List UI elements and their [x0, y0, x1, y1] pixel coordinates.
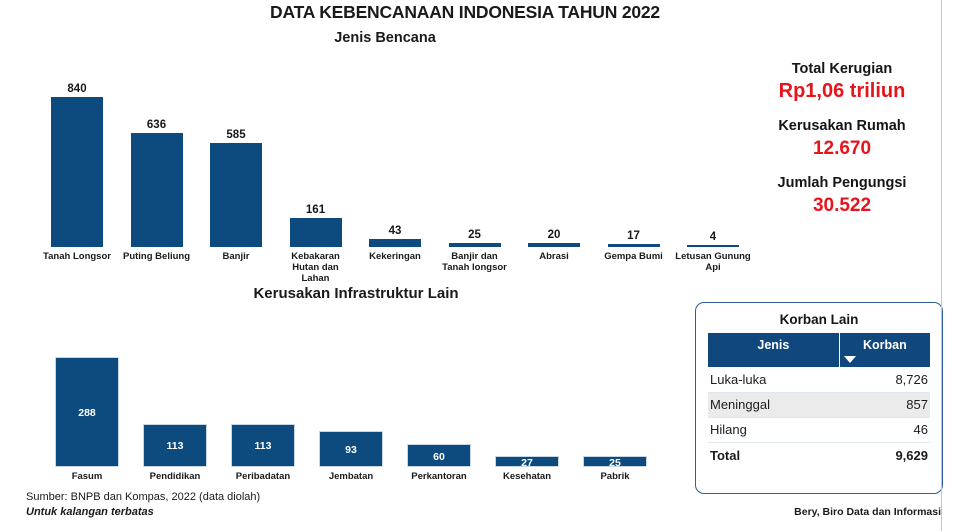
bar[interactable] [449, 243, 501, 247]
bar[interactable] [687, 245, 739, 248]
bar-column[interactable]: 27Kesehatan [495, 357, 559, 485]
bar[interactable] [210, 143, 262, 247]
bar-column[interactable]: 113Pendidikan [143, 357, 207, 485]
stat-value: Rp1,06 triliun [742, 79, 942, 104]
bar-value-label: 25 [449, 229, 501, 241]
stat-label: Total Kerugian [742, 60, 942, 79]
bar-column[interactable]: 161Kebakaran Hutan dan Lahan [290, 97, 342, 285]
bar[interactable] [131, 133, 183, 247]
cell-total-label: Total [708, 442, 839, 469]
bar[interactable] [369, 239, 421, 247]
bar-category-label: Pendidikan [131, 471, 219, 482]
chart-kerusakan-infrastruktur: 288Fasum113Pendidikan113Peribadatan93Jem… [0, 310, 690, 485]
bar-category-label: Letusan Gunung Api [675, 251, 751, 273]
bar-column[interactable]: 25Banjir dan Tanah longsor [449, 97, 501, 285]
bar-column[interactable]: 93Jembatan [319, 357, 383, 485]
cell-korban: 46 [839, 417, 930, 442]
bar-column[interactable]: 25Pabrik [583, 357, 647, 485]
bar-value-label: 25 [583, 457, 647, 469]
table-row[interactable]: Luka-luka8,726 [708, 367, 930, 392]
korban-lain-title: Korban Lain [708, 309, 930, 333]
bar-column[interactable]: 4Letusan Gunung Api [687, 97, 739, 285]
bar-value-label: 27 [495, 457, 559, 469]
bar-value-label: 20 [528, 229, 580, 241]
bar-value-label: 4 [687, 231, 739, 243]
bar-value-label: 288 [55, 407, 119, 419]
sort-descending-arrow-icon[interactable] [844, 356, 856, 363]
chart-infra-title: Kerusakan Infrastruktur Lain [0, 285, 712, 302]
bar[interactable] [608, 244, 660, 247]
bar-category-label: Pabrik [571, 471, 659, 482]
bar-category-label: Kekeringan [357, 251, 433, 262]
limited-distribution-text: Untuk kalangan terbatas [26, 505, 260, 520]
bar-value-label: 17 [608, 230, 660, 242]
chart-jenis-title: Jenis Bencana [0, 30, 770, 46]
source-text: Sumber: BNPB dan Kompas, 2022 (data diol… [26, 490, 260, 505]
bar-column[interactable]: 60Perkantoran [407, 357, 471, 485]
bar-value-label: 60 [407, 451, 471, 463]
bar-column[interactable]: 585Banjir [210, 97, 262, 285]
bar-category-label: Tanah Longsor [39, 251, 115, 262]
chart-jenis-bencana: 840Tanah Longsor636Puting Beliung585Banj… [0, 50, 770, 285]
summary-stats-panel: Total Kerugian Rp1,06 triliun Kerusakan … [742, 60, 942, 231]
cell-jenis: Hilang [708, 417, 839, 442]
bar-category-label: Jembatan [307, 471, 395, 482]
bar-category-label: Peribadatan [219, 471, 307, 482]
bar-column[interactable]: 636Puting Beliung [131, 97, 183, 285]
column-header-korban[interactable]: Korban [839, 333, 930, 367]
stat-total-kerugian: Total Kerugian Rp1,06 triliun [742, 60, 942, 104]
bar-value-label: 161 [290, 204, 342, 216]
footer-credit: Bery, Biro Data dan Informasi [794, 506, 941, 518]
footer-source: Sumber: BNPB dan Kompas, 2022 (data diol… [26, 490, 260, 520]
table-row[interactable]: Hilang46 [708, 417, 930, 442]
table-body: Luka-luka8,726Meninggal857Hilang46Total9… [708, 367, 930, 469]
stat-label: Kerusakan Rumah [742, 117, 942, 136]
bar-value-label: 840 [51, 83, 103, 95]
bar-category-label: Abrasi [516, 251, 592, 262]
bar-value-label: 93 [319, 444, 383, 456]
bar-column[interactable]: 288Fasum [55, 357, 119, 485]
bar-category-label: Banjir dan Tanah longsor [437, 251, 513, 273]
bar[interactable] [51, 97, 103, 247]
stat-value: 30.522 [742, 193, 942, 218]
korban-lain-panel: Korban Lain Jenis Korban Luka-luka8,726M… [695, 302, 943, 494]
bar-column[interactable]: 20Abrasi [528, 97, 580, 285]
bar-category-label: Banjir [198, 251, 274, 262]
cell-korban: 8,726 [839, 367, 930, 392]
bar-category-label: Puting Beliung [119, 251, 195, 262]
column-header-korban-label: Korban [863, 338, 907, 352]
bar[interactable] [290, 218, 342, 247]
bar-category-label: Kebakaran Hutan dan Lahan [278, 251, 354, 284]
stat-label: Jumlah Pengungsi [742, 174, 942, 193]
korban-lain-table: Jenis Korban Luka-luka8,726Meninggal857H… [708, 333, 930, 469]
table-row[interactable]: Meninggal857 [708, 392, 930, 417]
cell-jenis: Luka-luka [708, 367, 839, 392]
bar-value-label: 585 [210, 129, 262, 141]
bar-value-label: 113 [231, 440, 295, 452]
bar[interactable] [528, 243, 580, 247]
stat-jumlah-pengungsi: Jumlah Pengungsi 30.522 [742, 174, 942, 218]
bar-column[interactable]: 17Gempa Bumi [608, 97, 660, 285]
bar-category-label: Fasum [43, 471, 131, 482]
bar-column[interactable]: 840Tanah Longsor [51, 97, 103, 285]
infographic-page: DATA KEBENCANAAN INDONESIA TAHUN 2022 Je… [0, 0, 953, 531]
bar-value-label: 636 [131, 119, 183, 131]
bar-value-label: 113 [143, 440, 207, 452]
cell-jenis: Meninggal [708, 392, 839, 417]
table-header: Jenis Korban [708, 333, 930, 367]
column-header-jenis[interactable]: Jenis [708, 333, 839, 367]
bar-category-label: Gempa Bumi [596, 251, 672, 262]
right-edge-divider [941, 0, 942, 531]
stat-value: 12.670 [742, 136, 942, 161]
cell-total-value: 9,629 [839, 442, 930, 469]
stat-kerusakan-rumah: Kerusakan Rumah 12.670 [742, 117, 942, 161]
bar-column[interactable]: 43Kekeringan [369, 97, 421, 285]
page-title: DATA KEBENCANAAN INDONESIA TAHUN 2022 [0, 2, 930, 23]
bar-value-label: 43 [369, 225, 421, 237]
bar-category-label: Kesehatan [483, 471, 571, 482]
cell-korban: 857 [839, 392, 930, 417]
bar-column[interactable]: 113Peribadatan [231, 357, 295, 485]
bar-category-label: Perkantoran [395, 471, 483, 482]
table-row-total: Total9,629 [708, 442, 930, 469]
